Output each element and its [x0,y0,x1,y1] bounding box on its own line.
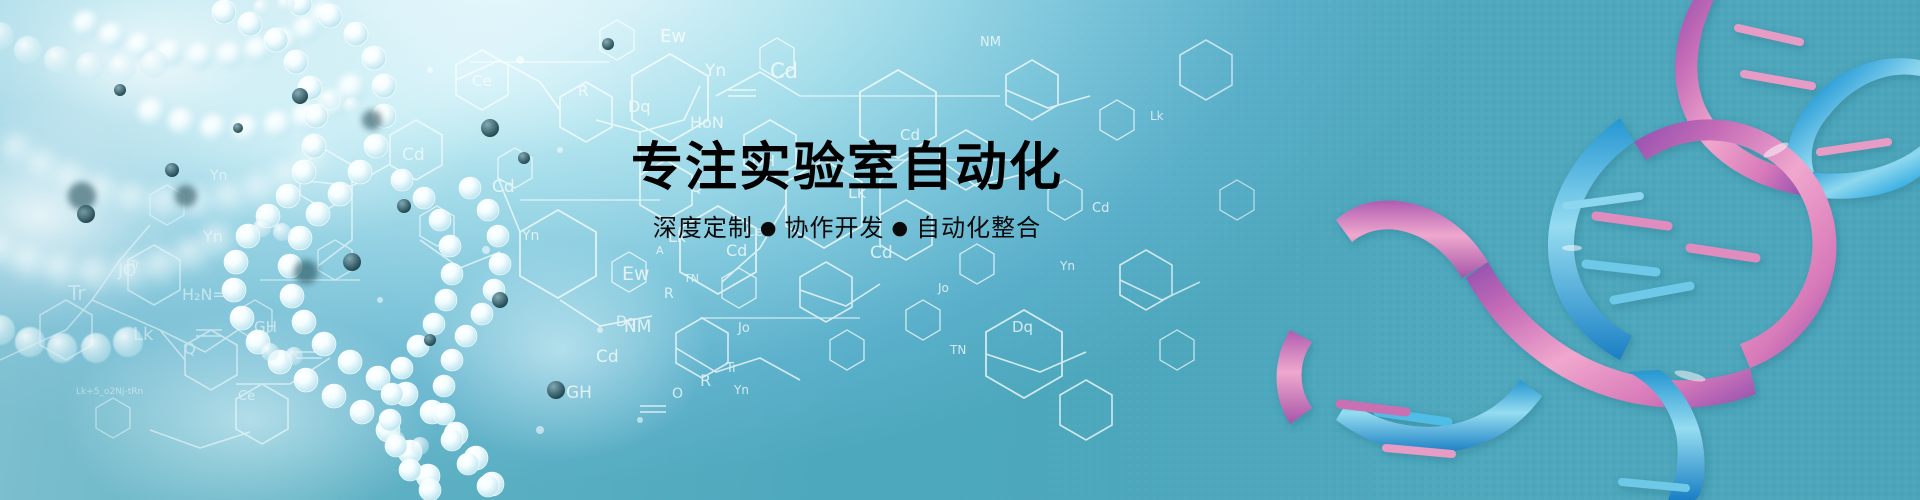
banner-text-block: 专注实验室自动化 深度定制●协作开发●自动化整合 [612,140,1082,243]
subtitle-part-1: 深度定制 [653,214,753,242]
page-title: 专注实验室自动化 [612,140,1082,196]
banner-subtitle: 深度定制●协作开发●自动化整合 [612,214,1082,243]
bullet-separator-icon: ● [885,217,917,239]
bullet-separator-icon: ● [753,217,785,239]
subtitle-part-2: 协作开发 [785,214,885,242]
subtitle-part-3: 自动化整合 [916,214,1041,242]
ribbon-dna-helix [0,0,1920,500]
hero-banner: Cd Ew Yn HoN R Dq Cd OH Q Lk Cd Ce A Ew … [0,0,1920,500]
